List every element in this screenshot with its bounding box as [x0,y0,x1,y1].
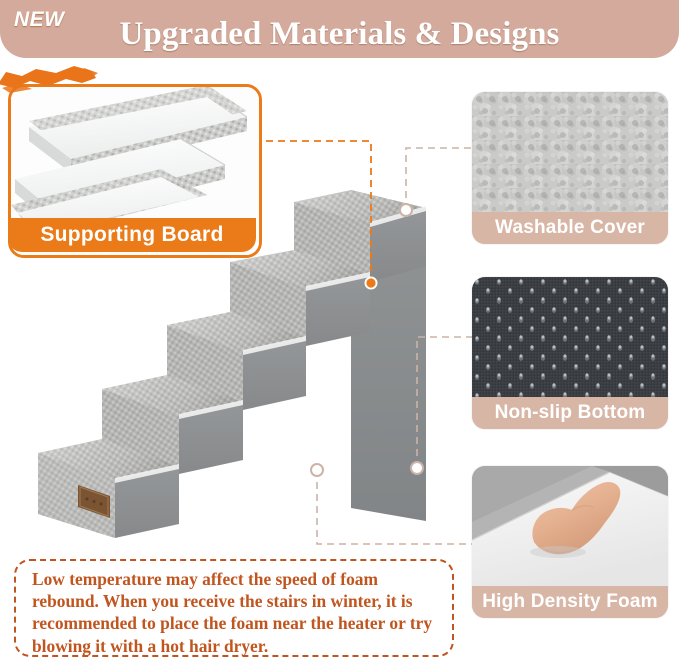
feature-panel-high-density-foam: High Density Foam [472,466,668,618]
high-density-foam-photo [472,466,668,586]
non-slip-bottom-swatch [472,277,668,397]
infographic-canvas: NEW Supporting Board [0,0,679,671]
new-badge [0,62,100,98]
washable-cover-swatch [472,92,668,212]
new-badge-label: NEW [14,8,65,32]
feature-panel-washable-cover: Washable Cover [472,92,668,244]
page-title: Upgraded Materials & Designs [0,0,679,58]
washable-cover-caption: Washable Cover [472,212,668,244]
temperature-note-box: Low temperature may affect the speed of … [14,559,454,657]
non-slip-bottom-caption: Non-slip Bottom [472,397,668,429]
supporting-board-caption: Supporting Board [8,218,256,252]
temperature-note-text: Low temperature may affect the speed of … [32,568,438,657]
high-density-foam-caption: High Density Foam [472,586,668,618]
feature-panel-non-slip-bottom: Non-slip Bottom [472,277,668,429]
